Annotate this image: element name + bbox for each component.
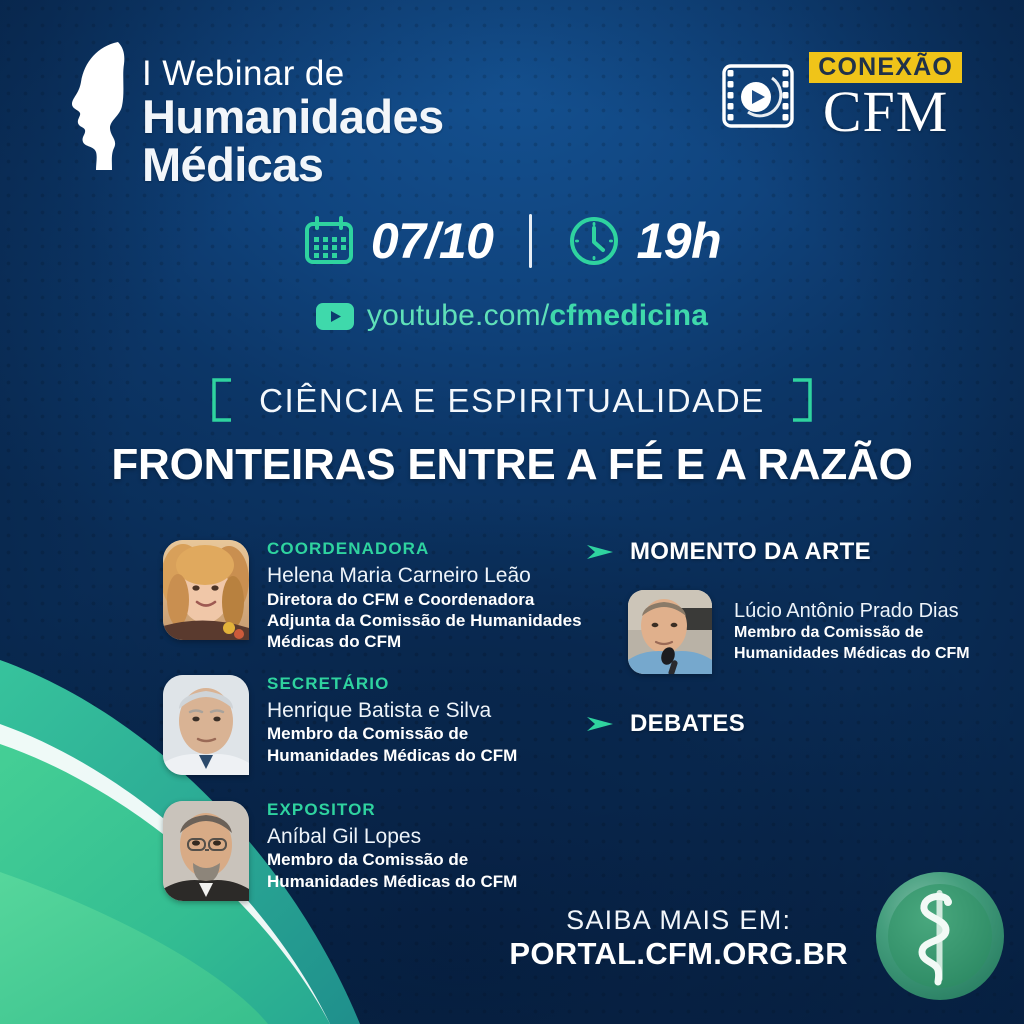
header: I Webinar de Humanidades Médicas [0,34,1024,174]
bracket-left-icon [211,378,233,422]
date-time-row: 07/10 19h [0,214,1024,268]
footer-website[interactable]: PORTAL.CFM.ORG.BR [509,937,848,972]
footer-cta-label: SAIBA MAIS EM: [509,905,848,935]
event-title-line1: Humanidades [142,93,444,141]
section-momento-da-arte: MOMENTO DA ARTE [586,540,1006,564]
speaker-title-line: Membro da Comissão de [267,723,517,744]
speaker-expositor: EXPOSITOR Aníbal Gil Lopes Membro da Com… [163,801,593,901]
event-title-line2: Médicas [142,141,444,189]
speaker-title-line: Diretora do CFM e Coordenadora [267,589,582,610]
speaker-coordenadora: COORDENADORA Helena Maria Carneiro Leão … [163,540,593,653]
footer: SAIBA MAIS EM: PORTAL.CFM.ORG.BR [509,905,848,972]
event-brand: I Webinar de Humanidades Médicas [68,38,444,189]
speaker-name: Aníbal Gil Lopes [267,825,517,849]
section-label: MOMENTO DA ARTE [630,540,871,564]
event-date: 07/10 [371,216,494,266]
speaker-title-line: Humanidades Médicas do CFM [734,644,970,664]
youtube-play-icon [316,303,354,330]
speaker-title-line: Médicas do CFM [267,631,582,652]
date-group: 07/10 [303,215,494,267]
speaker-title-line: Adjunta da Comissão de Humanidades [267,610,582,631]
program-right-column: MOMENTO DA ARTE Lúcio [586,540,1006,762]
speaker-name: Henrique Batista e Silva [267,699,517,723]
youtube-channel: cfmedicina [549,299,708,332]
speaker-momento-da-arte: Lúcio Antônio Prado Dias Membro da Comis… [586,590,1006,674]
arrow-right-icon [586,714,614,734]
speaker-role: EXPOSITOR [267,801,517,818]
calendar-icon [303,215,355,267]
speaker-role: COORDENADORA [267,540,582,557]
youtube-domain: youtube.com/ [367,299,550,332]
time-group: 19h [568,215,721,267]
section-debates: DEBATES [586,712,1006,736]
cfm-label: CFM [809,84,962,139]
page-title: FRONTEIRAS ENTRE A FÉ E A RAZÃO [0,443,1024,487]
speaker-title-line: Humanidades Médicas do CFM [267,871,517,892]
speaker-name: Helena Maria Carneiro Leão [267,564,582,588]
speaker-name: Lúcio Antônio Prado Dias [734,600,970,622]
theme-subtitle: CIÊNCIA E ESPIRITUALIDADE [259,384,765,417]
conexao-cfm-logo: CONEXÃO CFM [720,52,962,139]
arrow-right-icon [586,542,614,562]
event-subtitle: I Webinar de [142,56,444,91]
event-time: 19h [636,216,721,266]
youtube-link[interactable]: youtube.com/cfmedicina [0,301,1024,331]
section-label: DEBATES [630,712,745,736]
bracket-right-icon [791,378,813,422]
theme-subtitle-row: CIÊNCIA E ESPIRITUALIDADE [0,378,1024,422]
speakers-left-column: COORDENADORA Helena Maria Carneiro Leão … [163,540,593,909]
speaker-title-line: Humanidades Médicas do CFM [267,745,517,766]
speaker-title-line: Membro da Comissão de [267,849,517,870]
avatar [163,801,249,901]
date-time-divider [529,214,532,268]
face-profile-icon [68,40,130,172]
clock-icon [568,215,620,267]
film-play-icon [720,58,796,134]
speaker-role: SECRETÁRIO [267,675,517,692]
avatar [628,590,712,674]
speaker-title-line: Membro da Comissão de [734,623,970,643]
avatar [163,675,249,775]
speaker-secretario: SECRETÁRIO Henrique Batista e Silva Memb… [163,675,593,775]
avatar [163,540,249,640]
